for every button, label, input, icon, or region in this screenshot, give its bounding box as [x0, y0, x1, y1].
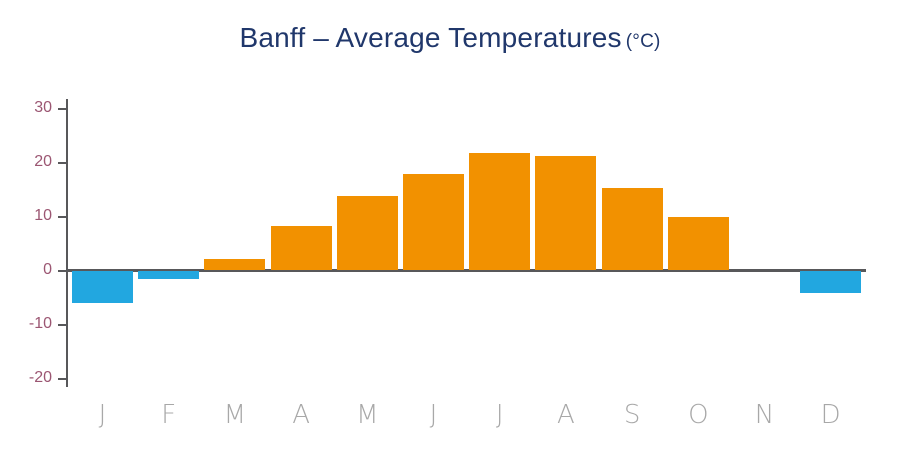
x-axis-label-march: M [204, 400, 265, 430]
x-axis-label-june: J [403, 400, 464, 430]
x-axis-label-february: F [138, 400, 199, 430]
x-axis-label-november: N [734, 400, 795, 430]
x-axis-label-september: S [602, 400, 663, 430]
bar-june[interactable] [403, 174, 464, 270]
bar-october[interactable] [668, 217, 729, 270]
x-axis-label-may: M [337, 400, 398, 430]
x-axis-label-july: J [469, 400, 530, 430]
bar-march[interactable] [204, 259, 265, 270]
bar-february[interactable] [138, 271, 199, 279]
x-axis-label-april: A [271, 400, 332, 430]
bar-april[interactable] [271, 226, 332, 270]
bar-july[interactable] [469, 153, 530, 270]
bar-may[interactable] [337, 196, 398, 270]
bar-august[interactable] [535, 156, 596, 270]
bar-december[interactable] [800, 271, 861, 293]
x-axis-label-august: A [535, 400, 596, 430]
x-axis-label-december: D [800, 400, 861, 430]
x-axis-label-october: O [668, 400, 729, 430]
x-axis-label-january: J [72, 400, 133, 430]
bar-january[interactable] [72, 271, 133, 303]
bars-layer [0, 0, 900, 450]
chart-root: Banff – Average Temperatures(°C) 3020100… [0, 0, 900, 450]
bar-september[interactable] [602, 188, 663, 270]
